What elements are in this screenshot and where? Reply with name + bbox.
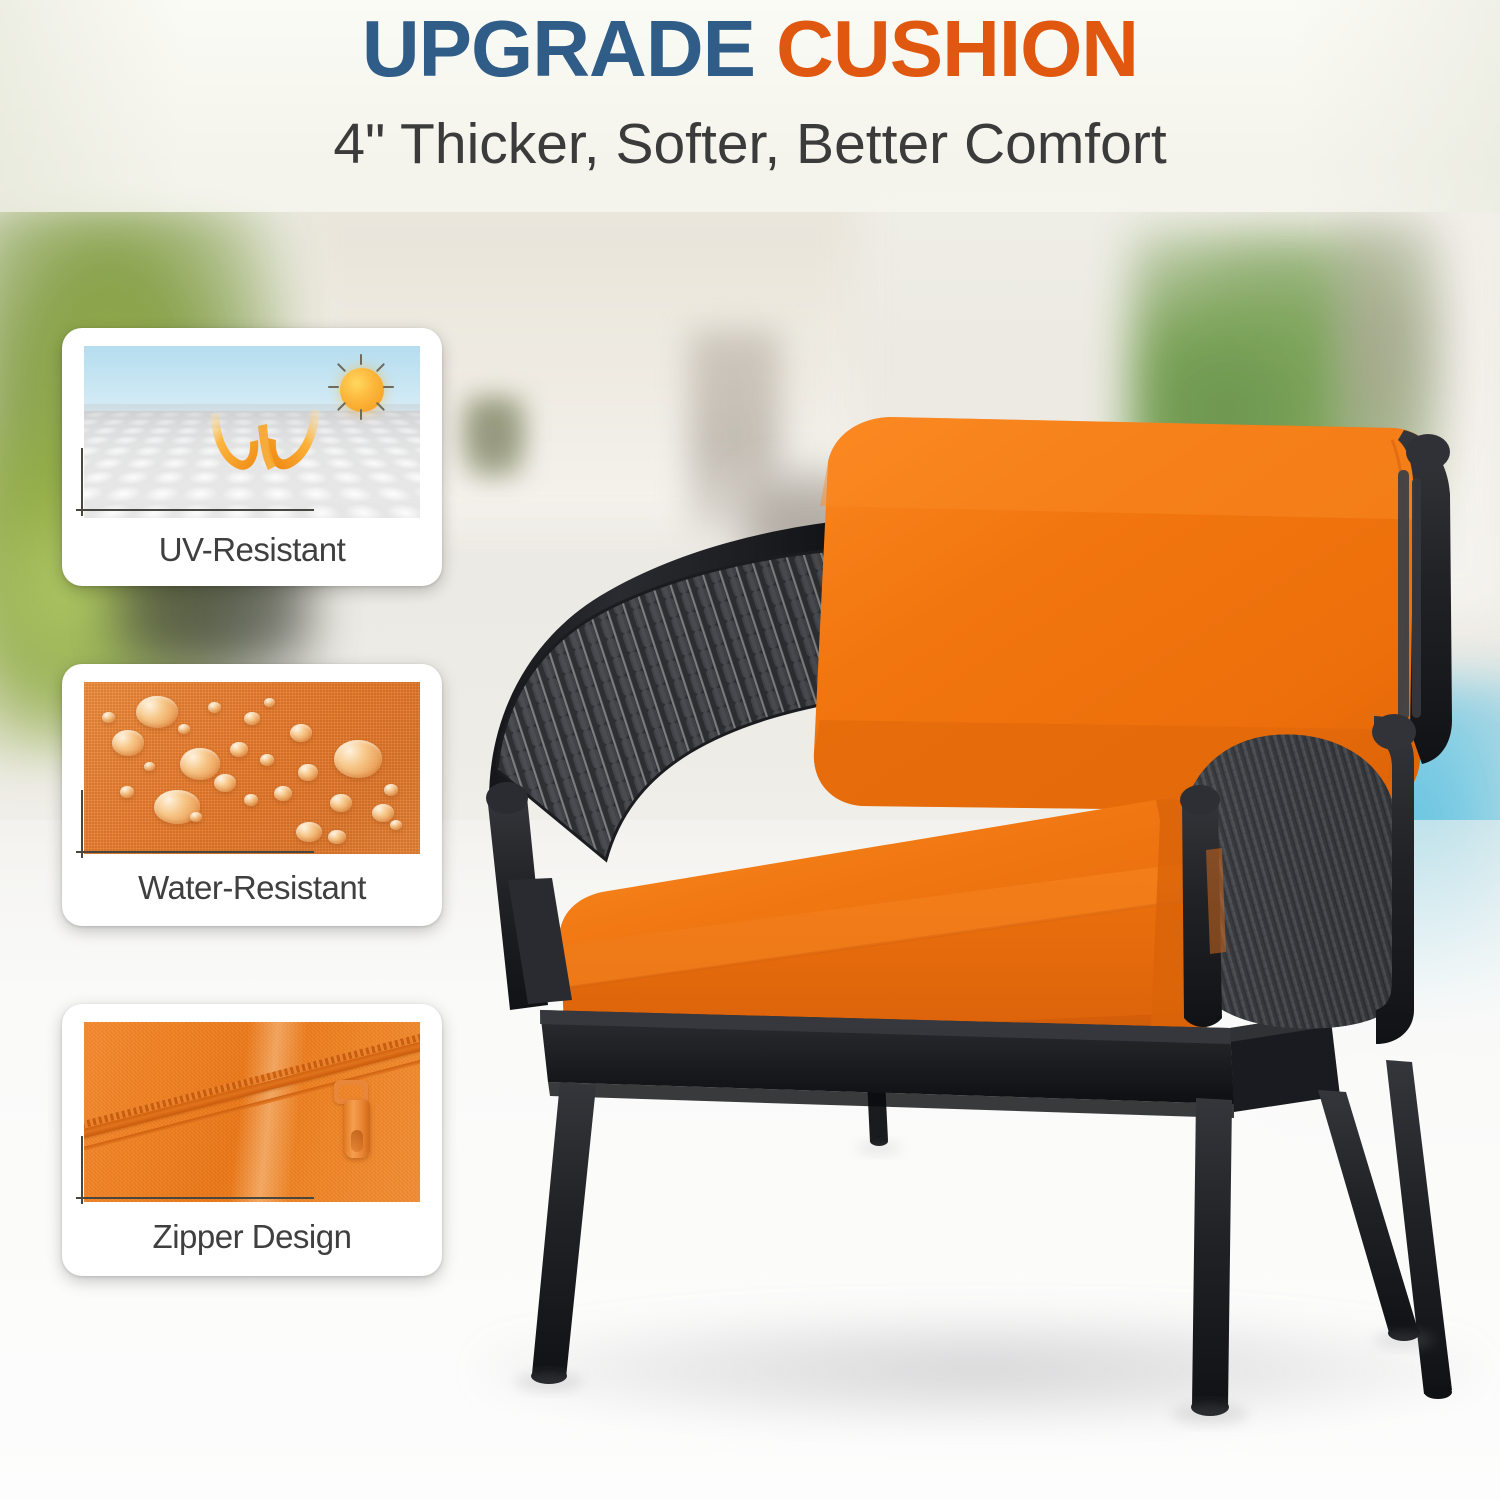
- zipper-design-illustration: [84, 1022, 420, 1202]
- feature-card-label-water-resistant: Water-Resistant: [62, 869, 442, 907]
- product-marketing-image: UPGRADE CUSHION 4" Thicker, Softer, Bett…: [0, 0, 1500, 1500]
- water-resistant-illustration: [84, 682, 420, 854]
- page-subtitle: 4" Thicker, Softer, Better Comfort: [0, 112, 1500, 178]
- title-word-upgrade: UPGRADE: [362, 4, 776, 93]
- zipper-pull-icon: [344, 1100, 370, 1158]
- page-title: UPGRADE CUSHION: [0, 6, 1500, 92]
- feature-card-label-zipper-design: Zipper Design: [62, 1218, 442, 1256]
- feature-card-zipper-design[interactable]: Zipper Design: [62, 1004, 442, 1276]
- feature-card-water-resistant[interactable]: Water-Resistant: [62, 664, 442, 926]
- title-word-cushion: CUSHION: [776, 4, 1138, 93]
- uv-ray-deflect-icon: [202, 408, 307, 464]
- feature-card-label-uv-resistant: UV-Resistant: [62, 531, 442, 569]
- header-banner: UPGRADE CUSHION 4" Thicker, Softer, Bett…: [0, 0, 1500, 212]
- feature-card-uv-resistant[interactable]: UV-Resistant: [62, 328, 442, 586]
- uv-resistant-illustration: [84, 346, 420, 518]
